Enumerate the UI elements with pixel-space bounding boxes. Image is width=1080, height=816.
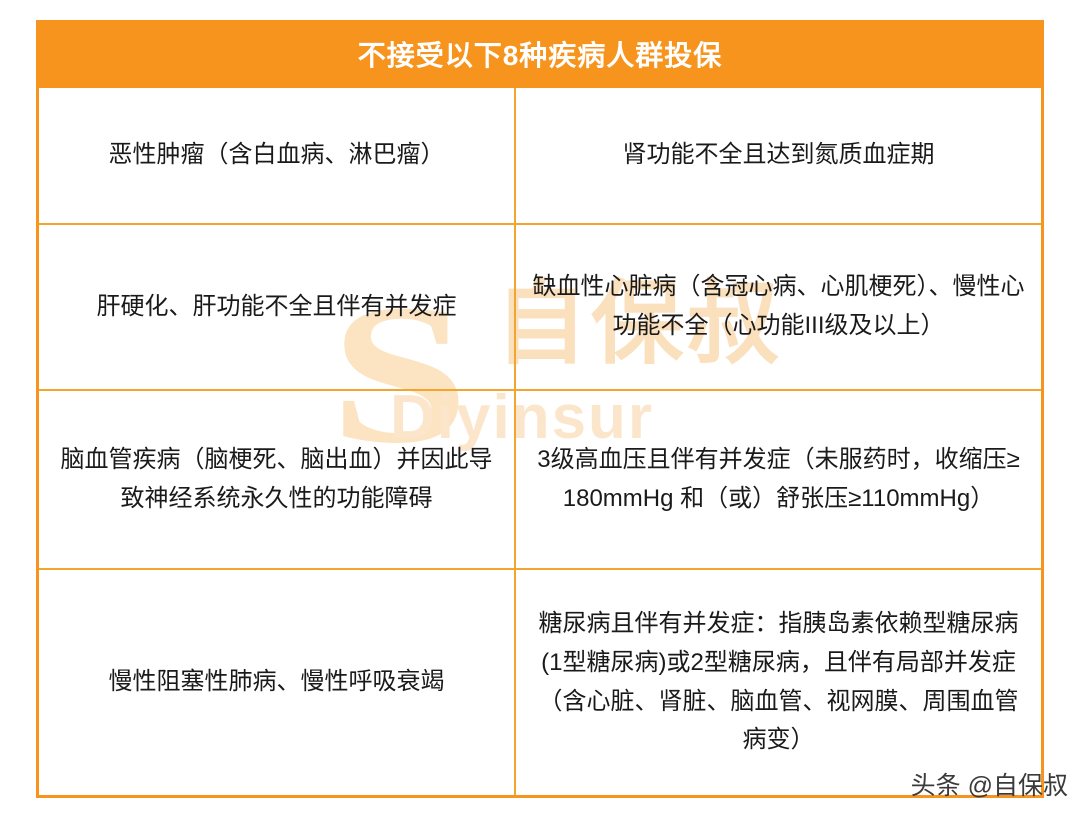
table-row: 肝硬化、肝功能不全且伴有并发症 缺血性心脏病（含冠心病、心肌梗死）、慢性心功能不… bbox=[39, 223, 1041, 389]
disease-exclusion-table: 不接受以下8种疾病人群投保 恶性肿瘤（含白血病、淋巴瘤） 肾功能不全且达到氮质血… bbox=[36, 20, 1044, 798]
table-row: 脑血管疾病（脑梗死、脑出血）并因此导致神经系统永久性的功能障碍 3级高血压且伴有… bbox=[39, 389, 1041, 568]
table-body: 恶性肿瘤（含白血病、淋巴瘤） 肾功能不全且达到氮质血症期 肝硬化、肝功能不全且伴… bbox=[36, 88, 1044, 798]
credit-watermark: 头条 @自保叔 bbox=[911, 766, 1068, 802]
table-row: 慢性阻塞性肺病、慢性呼吸衰竭 糖尿病且伴有并发症：指胰岛素依赖型糖尿病(1型糖尿… bbox=[39, 568, 1041, 795]
table-header: 不接受以下8种疾病人群投保 bbox=[36, 20, 1044, 88]
table-cell-disease: 恶性肿瘤（含白血病、淋巴瘤） bbox=[39, 88, 516, 223]
table-cell-disease: 肝硬化、肝功能不全且伴有并发症 bbox=[39, 225, 516, 389]
table-cell-disease: 缺血性心脏病（含冠心病、心肌梗死）、慢性心功能不全（心功能III级及以上） bbox=[516, 225, 1041, 389]
page-title: 不接受以下8种疾病人群投保 bbox=[358, 34, 723, 74]
table-cell-disease: 3级高血压且伴有并发症（未服药时，收缩压≥ 180mmHg 和（或）舒张压≥11… bbox=[516, 391, 1041, 568]
table-cell-disease: 糖尿病且伴有并发症：指胰岛素依赖型糖尿病(1型糖尿病)或2型糖尿病，且伴有局部并… bbox=[516, 570, 1041, 795]
table-cell-disease: 肾功能不全且达到氮质血症期 bbox=[516, 88, 1041, 223]
table-row: 恶性肿瘤（含白血病、淋巴瘤） 肾功能不全且达到氮质血症期 bbox=[39, 88, 1041, 223]
table-cell-disease: 慢性阻塞性肺病、慢性呼吸衰竭 bbox=[39, 570, 516, 795]
table-cell-disease: 脑血管疾病（脑梗死、脑出血）并因此导致神经系统永久性的功能障碍 bbox=[39, 391, 516, 568]
